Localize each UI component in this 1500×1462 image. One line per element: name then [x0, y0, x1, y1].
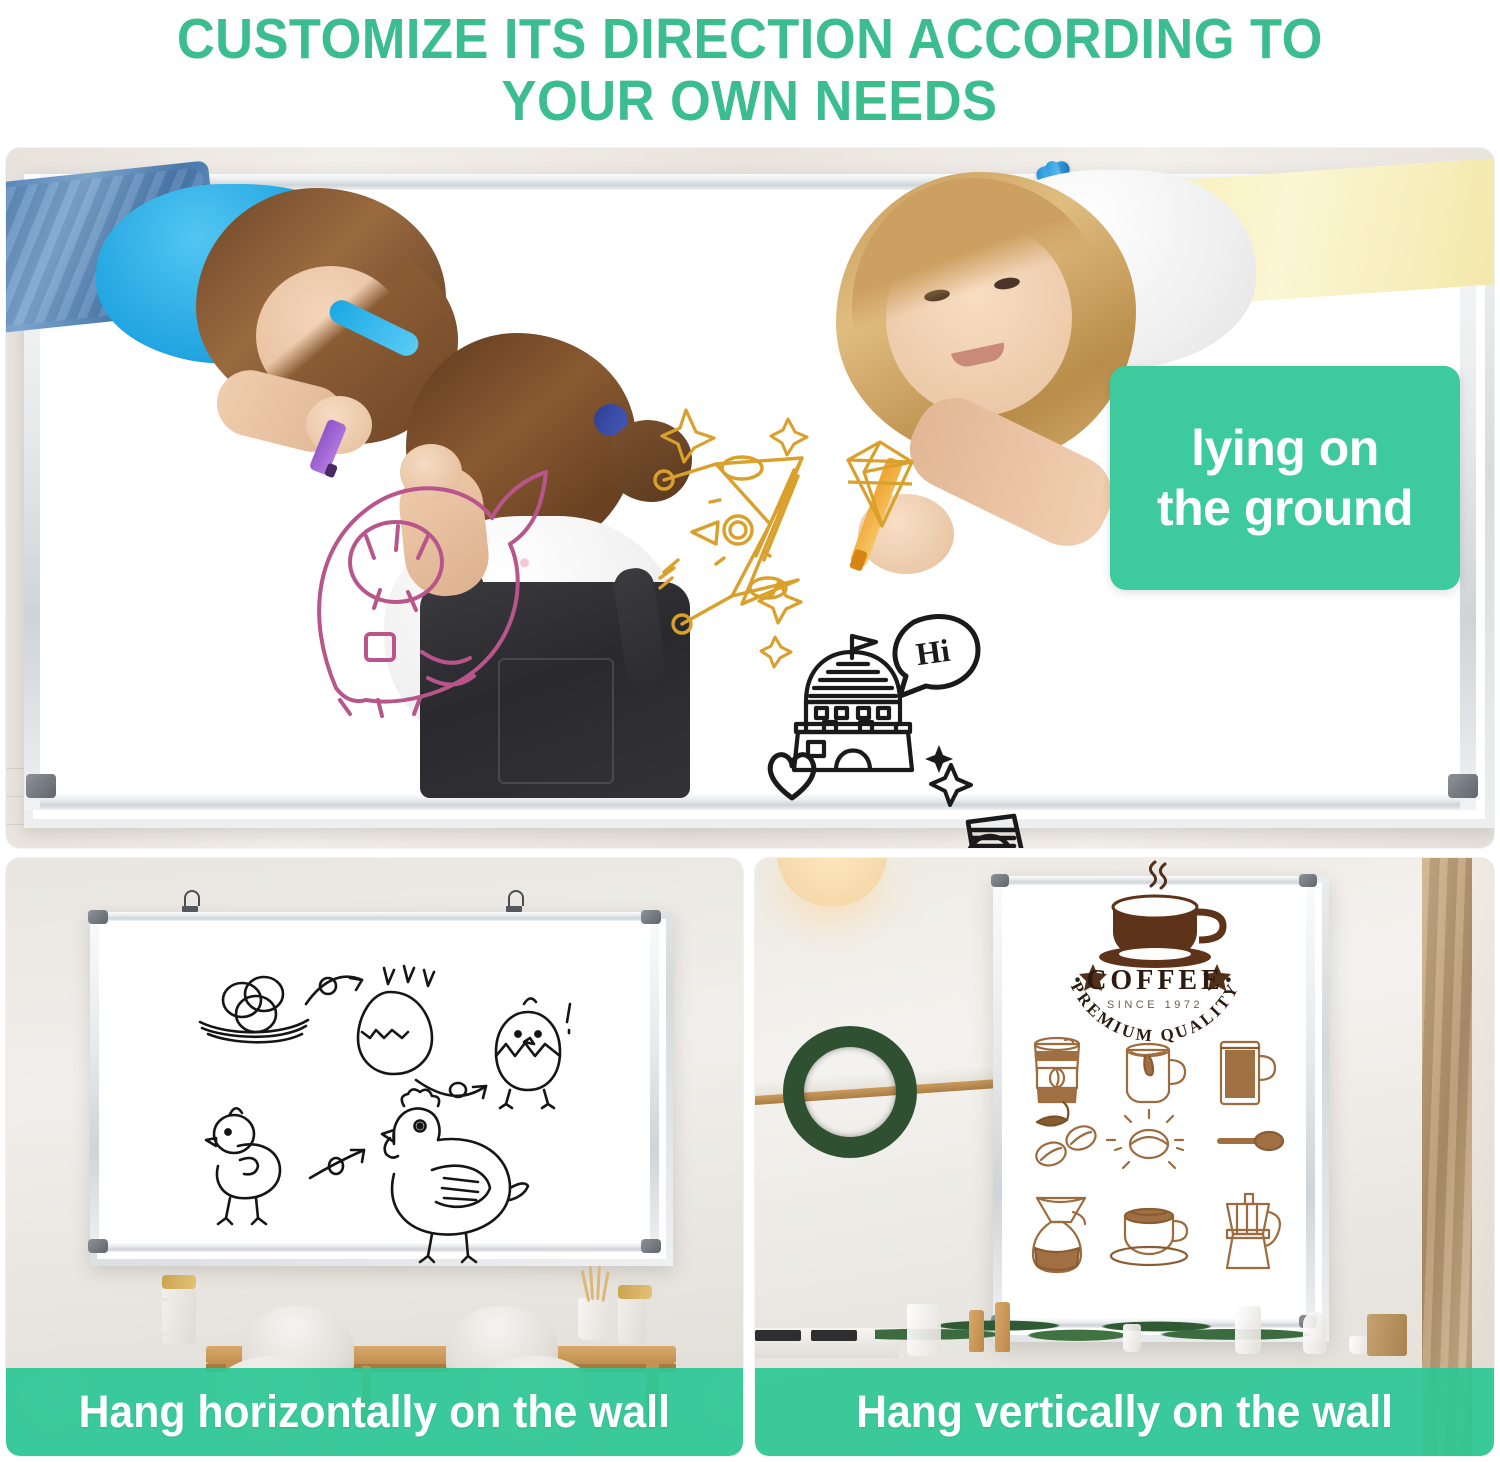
pencil-cup: [578, 1298, 608, 1340]
corner-cap-bottom-right: [1448, 774, 1478, 798]
bl-frame-top: [90, 912, 659, 921]
woven-basket: [1367, 1314, 1407, 1356]
heart-doodle: [764, 748, 820, 802]
child-right-hair-front: [852, 178, 1102, 428]
round-jar: [1303, 1312, 1327, 1354]
coffee-logo-since: SINCE 1972: [1107, 999, 1203, 1011]
panel-lying-on-the-ground: Hi: [6, 148, 1494, 848]
chicken-life-cycle-drawing: [194, 956, 574, 1216]
badge-line-1: lying on: [1157, 418, 1413, 478]
hanging-hook-right: [506, 890, 522, 912]
storage-jar: [1235, 1306, 1261, 1354]
caption-bar-horizontal: Hang horizontally on the wall: [6, 1368, 743, 1456]
caption-bar-vertical: Hang vertically on the wall: [755, 1368, 1494, 1456]
gold-sparkle-1: [658, 406, 718, 464]
corner-cap-bottom-left: [26, 774, 56, 798]
gold-sparkle-2: [768, 416, 810, 458]
ceramic-jar: [907, 1304, 941, 1356]
latte-glass-icon: [1221, 1042, 1275, 1104]
stove-burner-right: [811, 1330, 857, 1341]
bl-corner-tl: [88, 910, 108, 924]
thermos-right: [618, 1296, 646, 1344]
caption-text-vertical: Hang vertically on the wall: [856, 1386, 1393, 1438]
product-infographic: CUSTOMIZE ITS DIRECTION ACCORDING TO YOU…: [0, 0, 1500, 1462]
bl-corner-tr: [641, 910, 661, 924]
bl-frame-bottom: [90, 1243, 659, 1252]
nest-with-eggs: [200, 977, 308, 1042]
pepper-mill-2: [995, 1302, 1010, 1352]
hi-speech-bubble: Hi: [884, 610, 984, 702]
panel-hang-horizontally: Hang horizontally on the wall: [6, 858, 743, 1456]
black-sparkle-2: [928, 762, 974, 808]
cracking-egg: [358, 966, 434, 1074]
pour-over-carafe-icon: [1033, 1198, 1085, 1272]
headline-line-1: CUSTOMIZE ITS DIRECTION ACCORDING TO: [177, 8, 1323, 70]
coffee-logo: ·COFFEE· SINCE 1972 PREMIUM QUALITY: [1027, 880, 1283, 1024]
gold-diamond-doodle: [824, 434, 934, 544]
coffee-beans-icon: [1033, 1102, 1099, 1169]
coffee-logo-word: ·COFFEE·: [1073, 965, 1237, 996]
bl-frame-left: [90, 912, 99, 1252]
speech-bubble-text: Hi: [914, 632, 953, 673]
bl-frame-right: [650, 912, 659, 1252]
glass-mug-icon: [1127, 1044, 1185, 1102]
frame-bottom-rail: [24, 794, 1476, 810]
bottom-right-scene: ·COFFEE· SINCE 1972 PREMIUM QUALITY: [755, 858, 1494, 1456]
moka-pot-icon: [1227, 1194, 1280, 1268]
glass-tumbler: [1123, 1324, 1141, 1352]
coffee-cup-saucer-icon: [1111, 1209, 1187, 1265]
headline-block: CUSTOMIZE ITS DIRECTION ACCORDING TO YOU…: [0, 0, 1500, 140]
hanging-hook-left: [182, 890, 198, 912]
pink-bird-doodle: [296, 438, 556, 718]
spoon-icon: [1217, 1132, 1283, 1150]
chick: [206, 1108, 280, 1224]
headline-line-2: YOUR OWN NEEDS: [502, 70, 998, 132]
coffee-poster: ·COFFEE· SINCE 1972 PREMIUM QUALITY: [755, 858, 1494, 1456]
coffee-icon-grid: [1021, 1026, 1289, 1278]
lying-on-ground-badge: lying on the ground: [1110, 366, 1460, 590]
stove-burner-left: [755, 1330, 801, 1341]
thermos-handle: [148, 1298, 169, 1336]
panel-hang-vertically: ·COFFEE· SINCE 1972 PREMIUM QUALITY: [755, 858, 1494, 1456]
badge-line-2: the ground: [1157, 478, 1413, 538]
curtain-drape: [1472, 858, 1494, 1456]
takeaway-cup-icon: [1035, 1038, 1079, 1102]
bl-corner-bl: [88, 1239, 108, 1253]
caption-text-horizontal: Hang horizontally on the wall: [79, 1386, 670, 1438]
pepper-mill-1: [969, 1310, 984, 1352]
hatching-chick: [496, 998, 560, 1108]
bl-corner-br: [641, 1239, 661, 1253]
top-scene: Hi: [6, 148, 1494, 848]
roasted-bean-icon: [1107, 1110, 1183, 1168]
snowman-doodle: [936, 808, 1056, 848]
bottom-left-scene: Hang horizontally on the wall: [6, 858, 743, 1456]
